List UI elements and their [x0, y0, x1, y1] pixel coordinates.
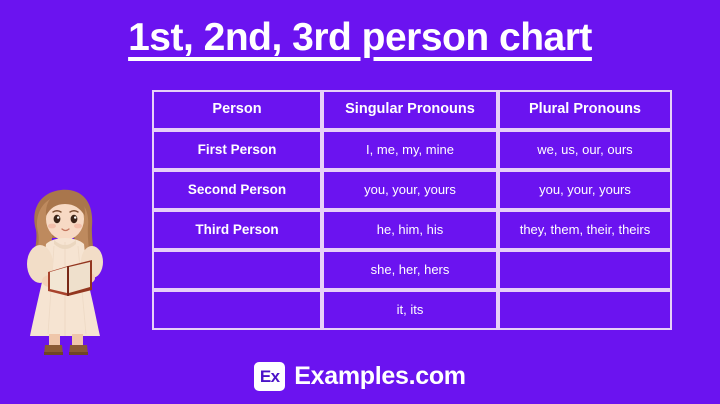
table-row: Second Person you, your, yours you, your…: [152, 170, 672, 210]
cell-person: [152, 290, 322, 330]
cell-singular: he, him, his: [322, 210, 498, 250]
cell-person: Second Person: [152, 170, 322, 210]
cell-plural: we, us, our, ours: [498, 130, 672, 170]
header-person: Person: [152, 90, 322, 130]
page-canvas: 1st, 2nd, 3rd person chart: [0, 0, 720, 404]
header-singular-pronouns: Singular Pronouns: [322, 90, 498, 130]
cell-singular: you, your, yours: [322, 170, 498, 210]
cell-person: Third Person: [152, 210, 322, 250]
table-row: First Person I, me, my, mine we, us, our…: [152, 130, 672, 170]
cell-person: [152, 250, 322, 290]
table-row: Third Person he, him, his they, them, th…: [152, 210, 672, 250]
table-row: it, its: [152, 290, 672, 330]
header-plural-pronouns: Plural Pronouns: [498, 90, 672, 130]
girl-reading-book-illustration: [8, 186, 126, 356]
examples-logo-icon: Ex: [254, 362, 285, 391]
site-logo-text: Examples.com: [294, 362, 466, 391]
person-pronoun-chart: Person Singular Pronouns Plural Pronouns…: [152, 90, 672, 330]
cell-plural: you, your, yours: [498, 170, 672, 210]
cell-person: First Person: [152, 130, 322, 170]
cell-singular: I, me, my, mine: [322, 130, 498, 170]
page-title: 1st, 2nd, 3rd person chart: [0, 16, 720, 60]
cell-plural: [498, 250, 672, 290]
table-header-row: Person Singular Pronouns Plural Pronouns: [152, 90, 672, 130]
site-logo[interactable]: Ex Examples.com: [0, 362, 720, 391]
table-row: she, her, hers: [152, 250, 672, 290]
cell-plural: they, them, their, theirs: [498, 210, 672, 250]
cell-plural: [498, 290, 672, 330]
cell-singular: she, her, hers: [322, 250, 498, 290]
cell-singular: it, its: [322, 290, 498, 330]
